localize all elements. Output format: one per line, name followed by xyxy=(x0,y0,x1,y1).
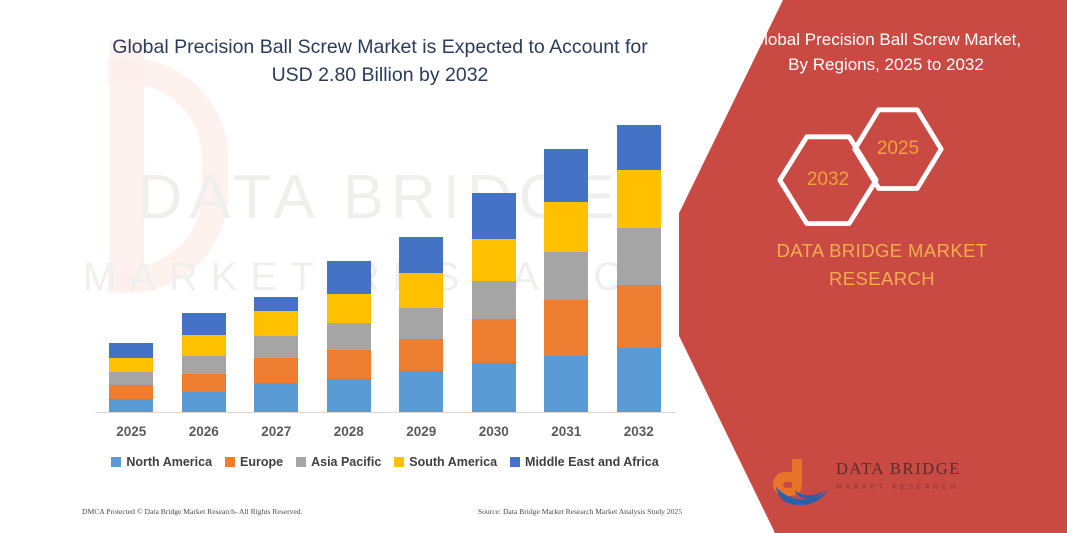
bar-segment[interactable] xyxy=(544,252,588,300)
page-title-line-2: USD 2.80 Billion by 2032 xyxy=(60,62,700,90)
bar-segment[interactable] xyxy=(617,170,661,228)
x-axis-line xyxy=(95,412,675,413)
company-logo: DATA BRIDGE MARKET RESEARCH xyxy=(772,455,1032,511)
bar-segment[interactable] xyxy=(327,323,371,350)
brand-name-line-1: DATA BRIDGE MARKET xyxy=(719,237,1045,265)
bar-segment[interactable] xyxy=(399,273,443,307)
bar-segment[interactable] xyxy=(617,348,661,413)
x-axis-label-2025: 2025 xyxy=(101,424,161,439)
page-title-line-1: Global Precision Ball Screw Market is Ex… xyxy=(60,34,700,62)
logo-text-block: DATA BRIDGE MARKET RESEARCH xyxy=(836,461,1026,490)
legend-item[interactable]: South America xyxy=(394,455,497,469)
bar-column-2027[interactable] xyxy=(254,297,298,413)
bar-segment[interactable] xyxy=(182,313,226,335)
bar-column-2028[interactable] xyxy=(327,261,371,413)
bar-segment[interactable] xyxy=(472,363,516,413)
chart-panel: DATA BRIDGE MARKET RESEARCH Global Preci… xyxy=(0,0,760,533)
bar-column-2030[interactable] xyxy=(472,193,516,413)
bar-segment[interactable] xyxy=(254,311,298,336)
footer: DMCA Protected © Data Bridge Market Rese… xyxy=(82,507,682,516)
bar-segment[interactable] xyxy=(472,281,516,320)
bar-segment[interactable] xyxy=(544,149,588,202)
legend-swatch-icon xyxy=(225,457,235,467)
legend-label: Middle East and Africa xyxy=(525,455,659,469)
legend-label: Europe xyxy=(240,455,283,469)
bar-segment[interactable] xyxy=(327,379,371,413)
hexagon-badge-2025-label: 2025 xyxy=(877,138,919,160)
bar-column-2025[interactable] xyxy=(109,343,153,413)
regions-title-line-2: By Regions, 2025 to 2032 xyxy=(723,53,1049,78)
bar-segment[interactable] xyxy=(327,350,371,378)
bar-column-2032[interactable] xyxy=(617,125,661,413)
legend-swatch-icon xyxy=(510,457,520,467)
x-axis-label-2027: 2027 xyxy=(246,424,306,439)
bar-segment[interactable] xyxy=(544,356,588,413)
brand-name: DATA BRIDGE MARKET RESEARCH xyxy=(667,237,1067,293)
bar-segment[interactable] xyxy=(182,392,226,413)
legend-swatch-icon xyxy=(394,457,404,467)
bar-segment[interactable] xyxy=(327,261,371,294)
legend-label: Asia Pacific xyxy=(311,455,381,469)
bar-segment[interactable] xyxy=(254,358,298,383)
footer-copyright: DMCA Protected © Data Bridge Market Rese… xyxy=(82,507,302,516)
bar-segment[interactable] xyxy=(399,339,443,371)
x-axis-label-2028: 2028 xyxy=(319,424,379,439)
x-axis-label-2032: 2032 xyxy=(609,424,669,439)
bar-segment[interactable] xyxy=(109,343,153,358)
bar-segment[interactable] xyxy=(109,399,153,413)
page-title: Global Precision Ball Screw Market is Ex… xyxy=(60,34,700,89)
bar-segment[interactable] xyxy=(254,297,298,311)
legend-item[interactable]: North America xyxy=(111,455,212,469)
bar-column-2031[interactable] xyxy=(544,149,588,413)
bar-segment[interactable] xyxy=(327,294,371,323)
bar-segment[interactable] xyxy=(472,239,516,281)
x-axis-label-2029: 2029 xyxy=(391,424,451,439)
legend-item[interactable]: Asia Pacific xyxy=(296,455,381,469)
x-axis-label-2031: 2031 xyxy=(536,424,596,439)
hexagon-badge-2032: 2032 xyxy=(775,132,881,228)
legend-label: South America xyxy=(409,455,497,469)
bar-segment[interactable] xyxy=(109,358,153,373)
bar-segment[interactable] xyxy=(472,193,516,239)
bar-segment[interactable] xyxy=(617,228,661,284)
bar-segment[interactable] xyxy=(182,374,226,392)
regions-title-line-1: Global Precision Ball Screw Market, xyxy=(723,28,1049,53)
bar-segment[interactable] xyxy=(472,319,516,363)
bar-segment[interactable] xyxy=(544,300,588,355)
x-axis-labels: 20252026202720282029203020312032 xyxy=(95,424,675,446)
legend-swatch-icon xyxy=(111,457,121,467)
x-axis-label-2030: 2030 xyxy=(464,424,524,439)
legend-item[interactable]: Europe xyxy=(225,455,283,469)
bar-segment[interactable] xyxy=(399,237,443,274)
legend-swatch-icon xyxy=(296,457,306,467)
hexagon-year-badges: 2025 2032 xyxy=(667,100,1067,210)
bar-segment[interactable] xyxy=(254,383,298,413)
data-bridge-logo-icon xyxy=(772,457,830,507)
hexagon-badge-2032-label: 2032 xyxy=(807,169,849,191)
x-axis-label-2026: 2026 xyxy=(174,424,234,439)
bar-column-2026[interactable] xyxy=(182,313,226,413)
chart-legend: North AmericaEuropeAsia PacificSouth Ame… xyxy=(95,455,675,469)
bar-segment[interactable] xyxy=(399,308,443,339)
legend-item[interactable]: Middle East and Africa xyxy=(510,455,659,469)
bar-segment[interactable] xyxy=(109,372,153,385)
bar-segment[interactable] xyxy=(544,202,588,252)
bar-segment[interactable] xyxy=(254,336,298,358)
footer-source: Source: Data Bridge Market Research Mark… xyxy=(478,507,682,516)
chart-plot-area xyxy=(95,100,675,413)
bar-segment[interactable] xyxy=(182,356,226,375)
logo-company-name: DATA BRIDGE xyxy=(836,461,1026,478)
legend-label: North America xyxy=(126,455,212,469)
brand-name-line-2: RESEARCH xyxy=(719,265,1045,293)
bar-segment[interactable] xyxy=(109,385,153,400)
logo-tagline: MARKET RESEARCH xyxy=(836,483,1026,490)
bar-segment[interactable] xyxy=(399,371,443,413)
bar-segment[interactable] xyxy=(182,335,226,356)
bar-segment[interactable] xyxy=(617,125,661,170)
bar-column-2029[interactable] xyxy=(399,237,443,413)
bar-segment[interactable] xyxy=(617,285,661,349)
